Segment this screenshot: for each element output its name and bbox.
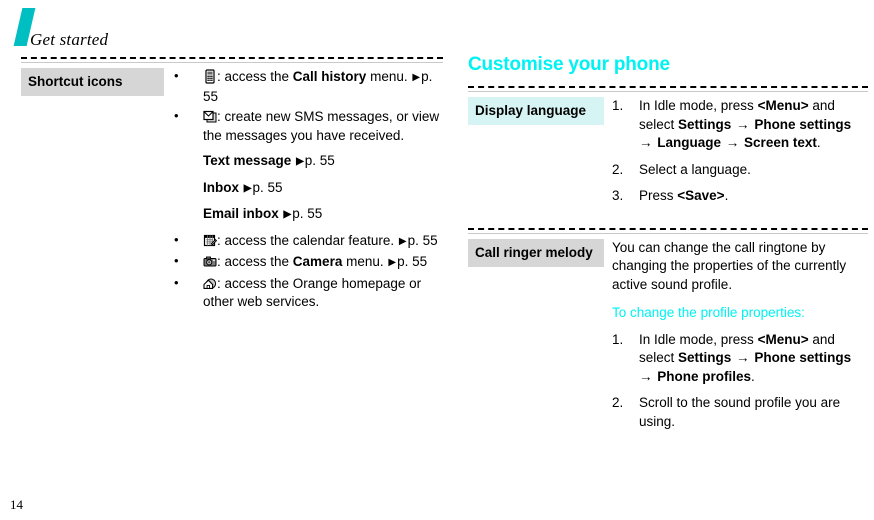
page-ref-triangle-icon: ▶ (411, 72, 421, 83)
bullet-text-before: : access the calendar feature. (217, 233, 394, 248)
separator-hairline (21, 62, 443, 63)
camera-icon (203, 254, 217, 269)
display-language-content: In Idle mode, press <Menu> and select Se… (604, 97, 868, 214)
section-separator (468, 226, 868, 234)
calendar-icon (203, 233, 217, 248)
page-ref: p. 55 (408, 233, 438, 248)
bullet-bold-term: Call history (293, 69, 367, 84)
page-ref-triangle-icon: ▶ (283, 209, 293, 220)
step-part: <Save> (677, 188, 724, 203)
shortcut-icons-content: : access the Call history menu. ▶p. 55 :… (164, 68, 443, 314)
list-item: : access the calendar feature. ▶p. 55 (172, 232, 443, 252)
list-item: : create new SMS messages, or view the m… (172, 108, 443, 225)
step-part: Scroll to the sound profile you are usin… (639, 395, 840, 429)
left-column: Shortcut icons (21, 55, 443, 314)
step-part: Language (657, 135, 721, 150)
page-title: Customise your phone (468, 55, 868, 75)
page-ref-triangle-icon: ▶ (243, 183, 253, 194)
sub-item-label: Email inbox (203, 206, 279, 221)
step-part: . (817, 135, 821, 150)
list-item: In Idle mode, press <Menu> and select Se… (612, 331, 868, 387)
step-part: In Idle mode, press (639, 332, 758, 347)
bullet-text-before: : create new SMS messages, or view the m… (203, 109, 439, 143)
step-part: Phone settings (754, 350, 851, 365)
call-ringer-lead: To change the profile properties: (612, 304, 868, 323)
shortcut-icons-row: Shortcut icons (21, 68, 443, 314)
page-ref: p. 55 (292, 206, 322, 221)
call-ringer-melody-row: Call ringer melody You can change the ca… (468, 239, 868, 440)
bullet-text-after: menu. (342, 254, 383, 269)
web-home-icon (203, 276, 217, 291)
step-part: Settings (678, 350, 731, 365)
page-ref-triangle-icon: ▶ (387, 257, 397, 268)
shortcut-icon-list: : access the Call history menu. ▶p. 55 :… (172, 68, 443, 312)
section-separator (21, 55, 443, 63)
sub-item: Email inbox ▶p. 55 (203, 205, 443, 225)
list-item: Select a language. (612, 161, 868, 180)
page-ref: p. 55 (305, 153, 335, 168)
step-part: . (751, 369, 755, 384)
arrow-icon: → (731, 117, 754, 132)
step-part: Press (639, 188, 677, 203)
list-item: In Idle mode, press <Menu> and select Se… (612, 97, 868, 153)
list-item: Press <Save>. (612, 187, 868, 206)
bullet-text-before: : access the Orange homepage or other we… (203, 276, 421, 310)
bullet-text-before: : access the (217, 69, 293, 84)
section-separator (468, 84, 868, 92)
list-item: : access the Call history menu. ▶p. 55 (172, 68, 443, 106)
chapter-title: Get started (30, 30, 108, 50)
step-part: Settings (678, 117, 731, 132)
list-item: : access the Camera menu. ▶p. 55 (172, 253, 443, 273)
page-ref-triangle-icon: ▶ (295, 156, 305, 167)
separator-dashed-line (21, 57, 443, 59)
shortcut-icons-label: Shortcut icons (21, 68, 164, 96)
display-language-steps: In Idle mode, press <Menu> and select Se… (612, 97, 868, 206)
separator-hairline (468, 91, 868, 92)
step-part: Phone profiles (657, 369, 751, 384)
right-column: Customise your phone Display language In… (468, 55, 868, 439)
display-language-row: Display language In Idle mode, press <Me… (468, 97, 868, 214)
call-ringer-melody-label: Call ringer melody (468, 239, 604, 267)
step-part: In Idle mode, press (639, 98, 758, 113)
step-part: <Menu> (758, 98, 809, 113)
arrow-icon: → (721, 135, 744, 150)
bullet-bold-term: Camera (293, 254, 343, 269)
step-part: <Menu> (758, 332, 809, 347)
bullet-text-after: menu. (366, 69, 407, 84)
page-ref-triangle-icon: ▶ (398, 236, 408, 247)
list-item: : access the Orange homepage or other we… (172, 275, 443, 312)
call-ringer-intro: You can change the call ringtone by chan… (612, 239, 868, 295)
sub-item-label: Inbox (203, 180, 239, 195)
call-history-icon (203, 69, 217, 84)
sms-envelope-icon (203, 109, 217, 124)
page-header: Get started (0, 0, 874, 60)
page-ref: p. 55 (252, 180, 282, 195)
arrow-icon: → (731, 350, 754, 365)
separator-dashed-line (468, 86, 868, 88)
separator-dashed-line (468, 228, 868, 230)
separator-hairline (468, 233, 868, 234)
step-part: Screen text (744, 135, 817, 150)
page-ref: p. 55 (397, 254, 427, 269)
sub-item: Inbox ▶p. 55 (203, 179, 443, 199)
step-part: . (725, 188, 729, 203)
sub-item: Text message ▶p. 55 (203, 152, 443, 172)
bullet-text-before: : access the (217, 254, 293, 269)
list-item: Scroll to the sound profile you are usin… (612, 394, 868, 431)
step-part: Select a language. (639, 162, 751, 177)
page-number: 14 (10, 497, 23, 513)
call-ringer-melody-content: You can change the call ringtone by chan… (604, 239, 868, 440)
display-language-label: Display language (468, 97, 604, 125)
call-ringer-steps: In Idle mode, press <Menu> and select Se… (612, 331, 868, 432)
step-part: Phone settings (754, 117, 851, 132)
sub-item-label: Text message (203, 153, 291, 168)
